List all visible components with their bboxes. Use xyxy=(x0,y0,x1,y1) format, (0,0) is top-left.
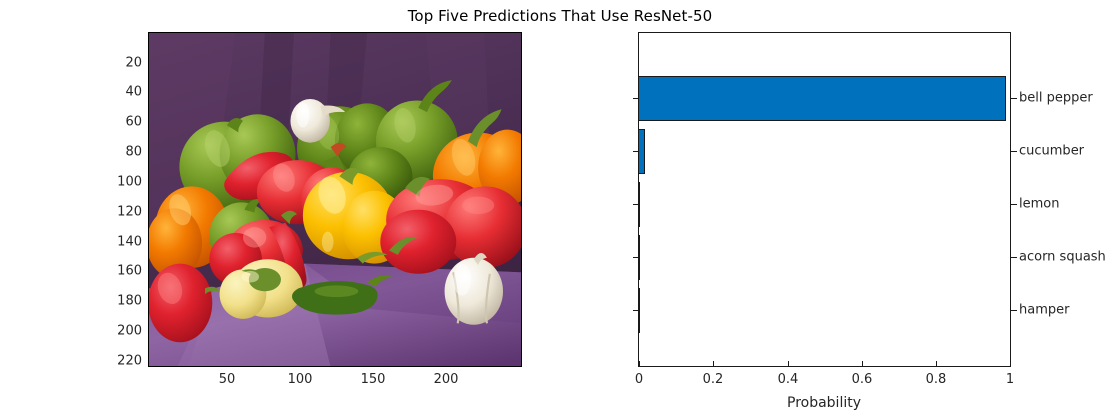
bar-x-tick xyxy=(639,361,640,367)
bar-y-tick xyxy=(1011,151,1017,152)
bar-x-tick xyxy=(862,361,863,367)
bar-x-tick-label: 0.6 xyxy=(852,372,873,387)
bar-category-label-lemon: lemon xyxy=(1019,197,1059,212)
bar-y-tick xyxy=(1011,204,1017,205)
bar-x-tick xyxy=(1010,361,1011,367)
bar-x-tick-label: 0.2 xyxy=(703,372,724,387)
image-y-tick-label: 180 xyxy=(102,294,142,309)
bar-x-tick-label: 1 xyxy=(1006,372,1014,387)
bar-category-label-hamper: hamper xyxy=(1019,303,1069,318)
image-x-tick-label: 50 xyxy=(219,372,236,387)
bar-category-label-acorn-squash: acorn squash xyxy=(1019,250,1106,265)
figure-canvas: Top Five Predictions That Use ResNet-50 xyxy=(0,0,1120,420)
image-y-tick-label: 80 xyxy=(102,145,142,160)
bar-y-tick xyxy=(1011,98,1017,99)
bar-cucumber xyxy=(638,129,645,174)
bar-x-axis-title: Probability xyxy=(787,395,861,411)
image-y-tick-label: 40 xyxy=(102,85,142,100)
bar-x-tick xyxy=(788,361,789,367)
bar-y-tick-inner xyxy=(633,257,639,258)
image-y-tick-label: 200 xyxy=(102,324,142,339)
image-y-tick-label: 100 xyxy=(102,175,142,190)
bar-category-label-bell-pepper: bell pepper xyxy=(1019,91,1093,106)
image-y-tick-label: 20 xyxy=(102,56,142,71)
peppers-image xyxy=(148,32,522,367)
image-x-tick-label: 100 xyxy=(288,372,313,387)
bar-x-tick-label: 0.8 xyxy=(926,372,947,387)
bar-y-tick-inner xyxy=(633,98,639,99)
image-y-tick-label: 140 xyxy=(102,235,142,250)
prediction-bar-chart xyxy=(638,32,1011,367)
bar-y-tick xyxy=(1011,257,1017,258)
page-title: Top Five Predictions That Use ResNet-50 xyxy=(0,7,1120,25)
image-x-tick-label: 200 xyxy=(434,372,459,387)
bar-y-tick-inner xyxy=(633,310,639,311)
image-y-tick-label: 60 xyxy=(102,115,142,130)
image-x-axis: 50 100 150 200 xyxy=(0,372,1120,394)
bar-bell-pepper xyxy=(638,76,1006,121)
bar-y-tick xyxy=(1011,310,1017,311)
bar-x-tick-label: 0.4 xyxy=(778,372,799,387)
peppers-image-axes xyxy=(148,32,522,367)
bar-x-tick xyxy=(713,361,714,367)
bar-x-tick xyxy=(936,361,937,367)
image-y-axis: 20 40 60 80 100 120 140 160 180 200 220 xyxy=(100,0,142,420)
image-y-tick-label: 120 xyxy=(102,205,142,220)
bar-x-tick-label: 0 xyxy=(635,372,643,387)
image-x-tick-label: 150 xyxy=(361,372,386,387)
image-y-tick-label: 160 xyxy=(102,264,142,279)
bar-y-tick-inner xyxy=(633,151,639,152)
image-y-tick-label: 220 xyxy=(102,354,142,369)
bar-y-tick-inner xyxy=(633,204,639,205)
bar-category-label-cucumber: cucumber xyxy=(1019,144,1084,159)
